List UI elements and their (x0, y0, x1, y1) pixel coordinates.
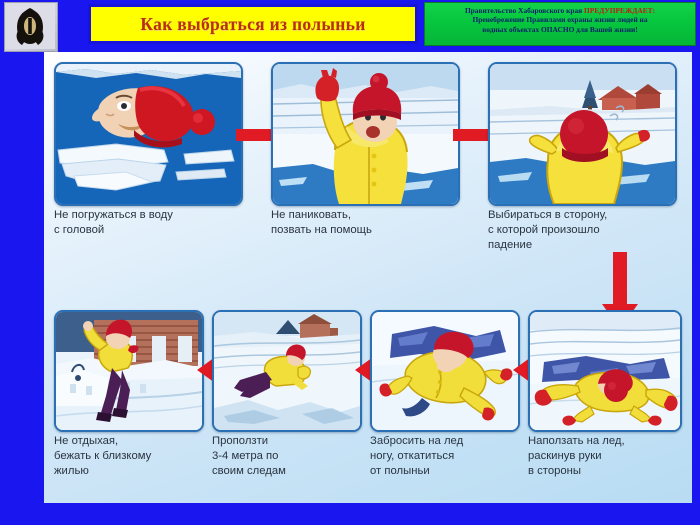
warning-line-1-highlight: ПРЕДУПРЕЖДАЕТ: (584, 6, 655, 15)
step-2-caption-line-1: Не паниковать, (271, 208, 471, 223)
steps-row-top: Не погружаться в воду с головой (44, 56, 692, 256)
step-1-caption: Не погружаться в воду с головой (54, 208, 244, 238)
infographic-sheet: Не погружаться в воду с головой (44, 52, 692, 503)
steps-row-bottom: Не отдыхая, бежать к близкому жилью (44, 310, 692, 500)
step-5-caption-line-3: от полыньи (370, 464, 520, 479)
step-5-caption: Забросить на лед ногу, откатиться от пол… (370, 434, 520, 479)
step-6-image (212, 310, 362, 432)
step-4-caption: Наползать на лед, раскинув руки в сторон… (528, 434, 683, 479)
step-7-caption-line-3: жилью (54, 464, 209, 479)
step-1-caption-line-2: с головой (54, 223, 244, 238)
step-2-image (271, 62, 460, 206)
step-6-caption-line-3: своим следам (212, 464, 362, 479)
step-4-caption-line-3: в стороны (528, 464, 683, 479)
step-1-image (54, 62, 243, 206)
warning-line-1-prefix: Правительство Хабаровского края (465, 6, 584, 15)
step-4-caption-line-2: раскинув руки (528, 449, 683, 464)
step-5-image (370, 310, 520, 432)
step-3-caption-line-1: Выбираться в сторону, (488, 208, 688, 223)
warning-line-1: Правительство Хабаровского края ПРЕДУПРЕ… (430, 6, 690, 15)
step-7-caption-line-1: Не отдыхая, (54, 434, 209, 449)
step-3-caption-line-3: падение (488, 238, 688, 253)
page-title: Как выбраться из полыньи (140, 14, 365, 35)
poster-title-box: Как выбраться из полыньи (88, 4, 418, 44)
step-4-image (528, 310, 682, 432)
warning-line-2: Пренебрежение Правилами охраны жизни люд… (430, 15, 690, 24)
step-5-caption-line-2: ногу, откатиться (370, 449, 520, 464)
warning-line-3: водных объектах ОПАСНО для Вашей жизни! (430, 25, 690, 34)
poster-root: Как выбраться из полыньи Правительство Х… (0, 0, 700, 525)
step-3-caption: Выбираться в сторону, с которой произошл… (488, 208, 688, 253)
government-warning-box: Правительство Хабаровского края ПРЕДУПРЕ… (424, 2, 696, 46)
step-5-caption-line-1: Забросить на лед (370, 434, 520, 449)
step-3-image (488, 62, 677, 206)
step-6-caption-line-1: Проползти (212, 434, 362, 449)
step-3-caption-line-2: с которой произошло (488, 223, 688, 238)
step-6-caption-line-2: 3-4 метра по (212, 449, 362, 464)
step-7-caption-line-2: бежать к близкому (54, 449, 209, 464)
step-2-caption: Не паниковать, позвать на помощь (271, 208, 471, 238)
coat-of-arms-emblem (4, 2, 58, 52)
step-7-image (54, 310, 204, 432)
step-4-caption-line-1: Наползать на лед, (528, 434, 683, 449)
step-7-caption: Не отдыхая, бежать к близкому жилью (54, 434, 209, 479)
step-2-caption-line-2: позвать на помощь (271, 223, 471, 238)
step-1-caption-line-1: Не погружаться в воду (54, 208, 244, 223)
step-6-caption: Проползти 3-4 метра по своим следам (212, 434, 362, 479)
poster-header: Как выбраться из полыньи Правительство Х… (0, 0, 700, 52)
